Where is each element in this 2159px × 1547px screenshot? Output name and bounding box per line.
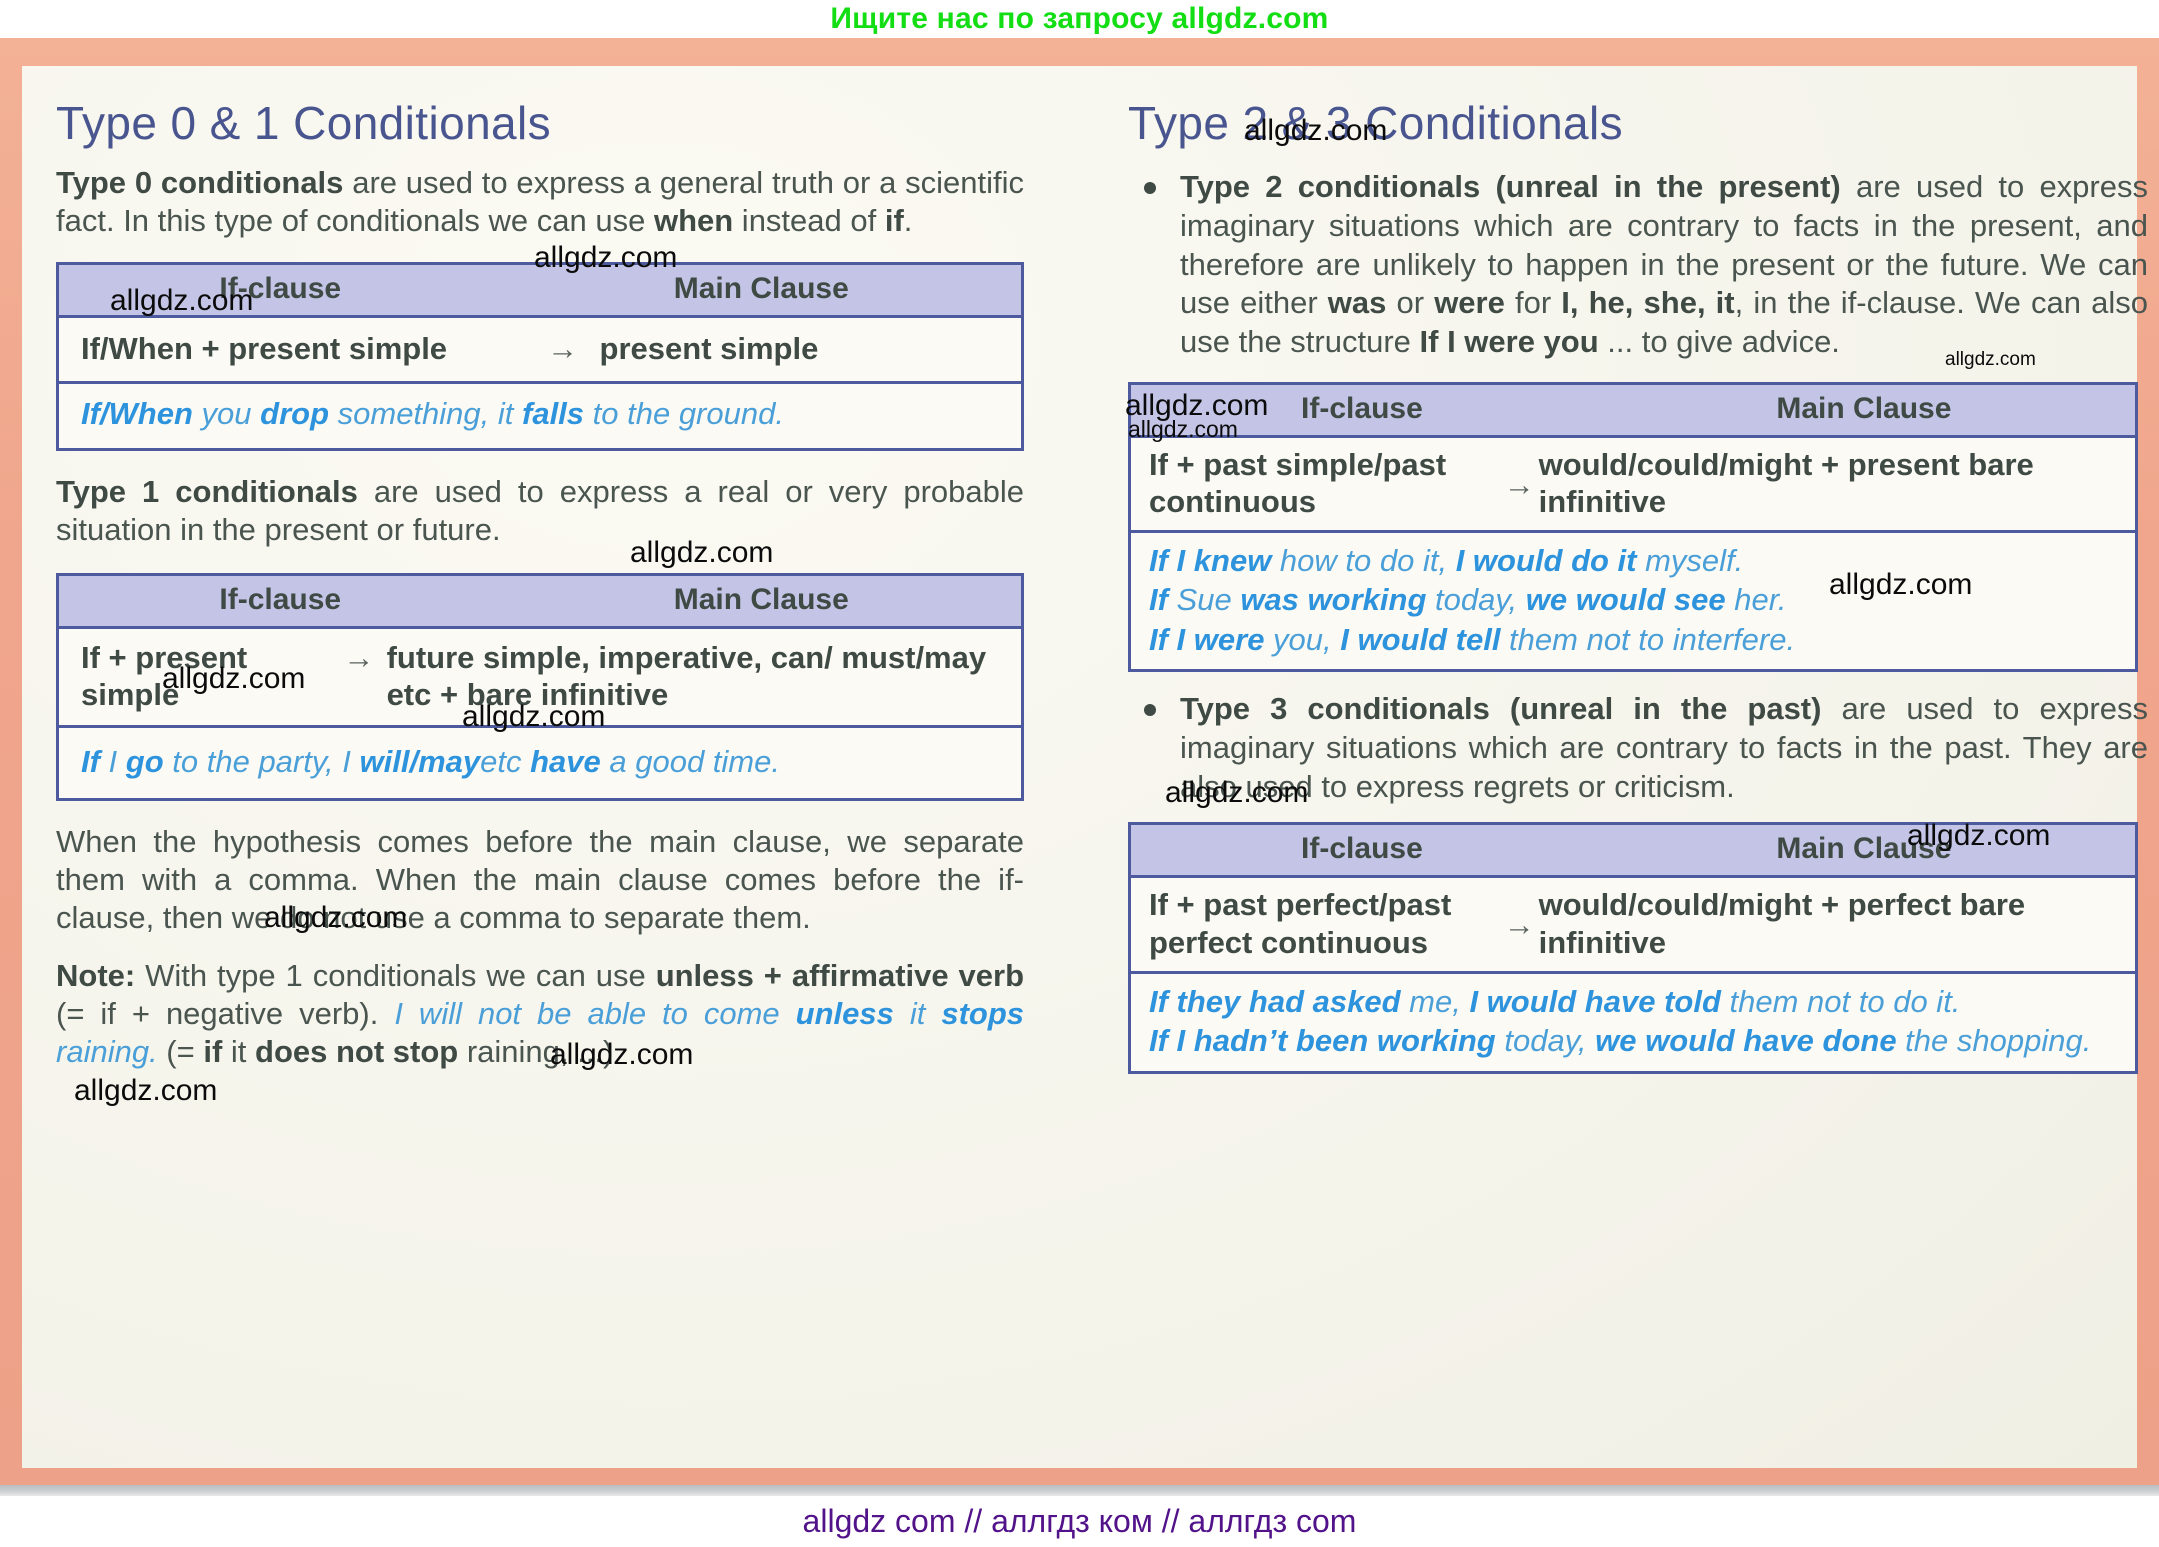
note-text: it [222, 1034, 255, 1069]
ex-bold: we would have done [1595, 1023, 1896, 1058]
ex-bold: will/may [360, 744, 481, 779]
watermark-allgdz: allgdz.com [110, 284, 253, 318]
type1-lead: Type 1 conditionals [56, 474, 358, 509]
type3-lead: Type 3 conditionals (unreal in the past) [1180, 691, 1821, 726]
watermark-allgdz: allgdz.com [462, 700, 605, 734]
note-text: (= [158, 1034, 204, 1069]
ex-bold: If I knew [1149, 543, 1271, 578]
ex-bold: drop [260, 396, 329, 431]
table-type1-header-main: Main Clause [674, 583, 849, 616]
table-type2-header: If-clause Main Clause [1131, 385, 2135, 438]
table-type3-header-if: If-clause [1301, 832, 1423, 865]
bottom-promo-banner: allgdz com // аллгдз ком // аллгдз com [0, 1496, 2159, 1547]
type2-bold-pronouns: I, he, she, it [1561, 285, 1734, 320]
table-type2-example-1: If I knew how to do it, I would do it my… [1149, 541, 2123, 580]
table-type3: If-clause Main Clause If + past perfect/… [1128, 822, 2138, 1073]
ex-bold: was working [1240, 582, 1426, 617]
watermark-allgdz: allgdz.com [534, 241, 677, 275]
watermark-allgdz: allgdz.com [1907, 819, 2050, 853]
table-type2-arrow-icon: → [1500, 446, 1539, 503]
note-bold-if: if [203, 1034, 222, 1069]
watermark-allgdz: allgdz.com [550, 1038, 693, 1072]
ex-bold: If I hadn’t been working [1149, 1023, 1496, 1058]
ex-text: Sue [1168, 582, 1240, 617]
page-shadow [0, 1485, 2159, 1496]
ex-text: today, [1426, 582, 1525, 617]
type2-text: ... to give advice. [1599, 324, 1840, 359]
note-bold-unless: unless + affirmative verb [656, 958, 1024, 993]
type0-bold-if: if [885, 203, 904, 238]
ex-text: to the ground. [584, 396, 784, 431]
ex-bold: go [126, 744, 164, 779]
note-example: I will not be able to come [394, 996, 795, 1031]
table-type1-header-if: If-clause [219, 583, 341, 616]
ex-text: a good time. [601, 744, 780, 779]
table-type2-example-2: If Sue was working today, we would see h… [1149, 580, 2123, 619]
top-promo-text: Ищите нас по запросу allgdz.com [830, 2, 1328, 36]
type2-bullet-list: Type 2 conditionals (unreal in the prese… [1118, 168, 2148, 362]
ex-bold: If [1149, 582, 1168, 617]
type0-lead: Type 0 conditionals [56, 165, 343, 200]
note-label: Note: [56, 958, 135, 993]
left-column: Type 0 & 1 Conditionals Type 0 condition… [40, 66, 1040, 1072]
table-type0-formula-right: present simple [600, 330, 1007, 367]
type2-bold-ifiwereyou: If I were you [1420, 324, 1599, 359]
scanned-page: Type 0 & 1 Conditionals Type 0 condition… [0, 38, 2159, 1496]
note-example-bold: stops [941, 996, 1024, 1031]
ex-bold: If I were [1149, 622, 1264, 657]
watermark-allgdz: allgdz.com [264, 901, 407, 935]
table-type0-header-main: Main Clause [674, 272, 849, 305]
type1-paragraph: Type 1 conditionals are used to express … [40, 451, 1040, 549]
table-type2-header-main: Main Clause [1776, 392, 1951, 425]
ex-text: myself. [1637, 543, 1744, 578]
note-paragraph: Note: With type 1 conditionals we can us… [40, 937, 1040, 1071]
table-type1-arrow-icon: → [331, 639, 387, 676]
table-type2: If-clause Main Clause If + past simple/p… [1128, 382, 2138, 672]
ex-bold: If/When [81, 396, 193, 431]
type0-bold-when: when [654, 203, 733, 238]
table-type1-example-1: If I go to the party, I will/mayetc have… [81, 742, 1007, 781]
ex-text: her. [1726, 582, 1787, 617]
ex-text: me, [1401, 984, 1470, 1019]
note-bold-doesnotstop: does not stop [255, 1034, 458, 1069]
table-type3-example-2: If I hadn’t been working today, we would… [1149, 1021, 2123, 1060]
ex-text: you [193, 396, 260, 431]
note-example: it [894, 996, 941, 1031]
ex-text: them not to do it. [1721, 984, 1961, 1019]
type2-bold-were: were [1434, 285, 1505, 320]
ex-text: you, [1264, 622, 1340, 657]
ex-text: them not to interfere. [1500, 622, 1795, 657]
table-type3-arrow-icon: → [1500, 886, 1539, 943]
right-column: Type 2 & 3 Conditionals Type 2 condition… [1118, 66, 2148, 1074]
watermark-allgdz: allgdz.com [74, 1074, 217, 1108]
ex-text: etc [480, 744, 530, 779]
table-type3-formula-left: If + past perfect/past perfect continuou… [1149, 886, 1500, 960]
watermark-allgdz: allgdz.com [162, 662, 305, 696]
watermark-allgdz: allgdz.com [1829, 568, 1972, 602]
watermark-allgdz: allgdz.com [1244, 114, 1387, 148]
ex-bold: I would have told [1469, 984, 1720, 1019]
watermark-allgdz: allgdz.com [630, 536, 773, 570]
table-type0-arrow-icon: → [525, 330, 599, 367]
note-example-bold: unless [796, 996, 894, 1031]
table-type2-example-3: If I were you, I would tell them not to … [1149, 620, 2123, 659]
ex-bold: I would do it [1456, 543, 1637, 578]
type2-lead: Type 2 conditionals (unreal in the prese… [1180, 169, 1841, 204]
table-type1-header: If-clause Main Clause [59, 576, 1021, 629]
type2-text: for [1505, 285, 1561, 320]
ex-bold: have [530, 744, 601, 779]
type2-text: or [1386, 285, 1434, 320]
table-type2-header-if: If-clause [1301, 392, 1423, 425]
type2-bold-was: was [1328, 285, 1387, 320]
ex-text: how to do it, [1271, 543, 1455, 578]
table-type2-formula-left: If + past simple/past continuous [1149, 446, 1500, 520]
bullet-dot-icon [1144, 704, 1156, 716]
watermark-allgdz: allgdz.com [1945, 349, 2036, 371]
paper-area: Type 0 & 1 Conditionals Type 0 condition… [22, 66, 2137, 1468]
type0-mid: instead of [733, 203, 885, 238]
table-type3-formula-right: would/could/might + perfect bare infinit… [1539, 886, 2123, 960]
ex-bold: we would see [1526, 582, 1726, 617]
ex-bold: If they had asked [1149, 984, 1401, 1019]
watermark-allgdz: allgdz.com [1165, 776, 1308, 810]
note-text: With type 1 conditionals we can use [135, 958, 655, 993]
ex-bold: falls [522, 396, 584, 431]
bottom-promo-text: allgdz com // аллгдз ком // аллгдз com [803, 1503, 1357, 1540]
type0-paragraph: Type 0 conditionals are used to express … [40, 146, 1040, 240]
table-type2-formula: If + past simple/past continuous → would… [1131, 438, 2135, 533]
table-type3-formula: If + past perfect/past perfect continuou… [1131, 878, 2135, 973]
left-section-title: Type 0 & 1 Conditionals [40, 66, 1040, 146]
ex-bold: I would tell [1340, 622, 1500, 657]
top-promo-banner: Ищите нас по запросу allgdz.com [0, 0, 2159, 38]
table-type2-examples: If I knew how to do it, I would do it my… [1131, 533, 2135, 669]
ex-text: something, it [329, 396, 522, 431]
ex-text: I [100, 744, 126, 779]
bullet-dot-icon [1144, 182, 1156, 194]
ex-text: to the party, I [164, 744, 360, 779]
note-text: (= if + negative verb). [56, 996, 394, 1031]
table-type0-formula: If/When + present simple → present simpl… [59, 318, 1021, 384]
table-type3-examples: If they had asked me, I would have told … [1131, 974, 2135, 1071]
comma-rule-paragraph: When the hypothesis comes before the mai… [40, 801, 1040, 937]
table-type0-examples: If/When you drop something, it falls to … [59, 384, 1021, 447]
ex-text: the shopping. [1897, 1023, 2092, 1058]
bullet-type2: Type 2 conditionals (unreal in the prese… [1118, 168, 2148, 362]
table-type0-example-1: If/When you drop something, it falls to … [81, 394, 1007, 433]
table-type2-formula-right: would/could/might + present bare infinit… [1539, 446, 2123, 520]
watermark-allgdz: allgdz.com [1128, 416, 1238, 443]
type0-end: . [904, 203, 913, 238]
ex-bold: If [81, 744, 100, 779]
table-type1-examples: If I go to the party, I will/mayetc have… [59, 728, 1021, 797]
ex-text: today, [1496, 1023, 1595, 1058]
table-type0-formula-left: If/When + present simple [81, 330, 525, 367]
note-example: raining. [56, 1034, 158, 1069]
table-type3-example-1: If they had asked me, I would have told … [1149, 982, 2123, 1021]
